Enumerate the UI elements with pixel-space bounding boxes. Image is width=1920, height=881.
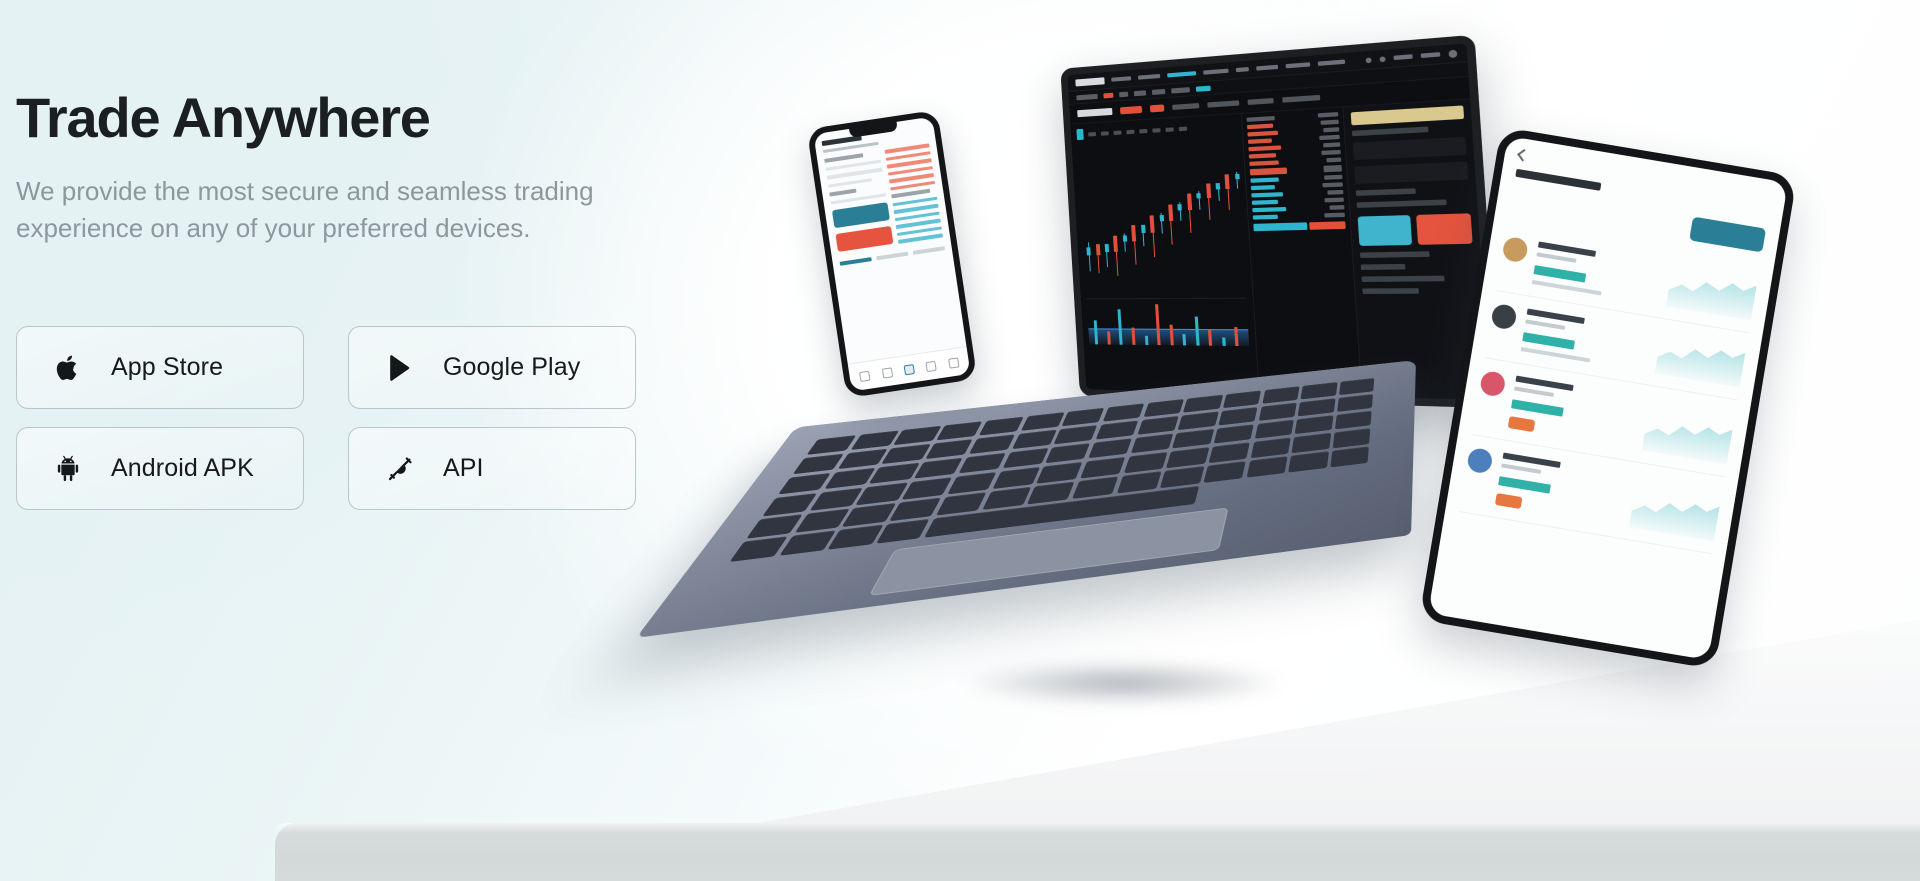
keyboard-key[interactable] [1255, 420, 1294, 440]
phone-trade-body [817, 138, 952, 263]
markets-icon[interactable] [881, 367, 892, 378]
volume-bar [1144, 336, 1148, 345]
sell-short-button[interactable] [1416, 213, 1473, 245]
trader-list [1444, 216, 1774, 563]
tablet-screen-title [1515, 169, 1601, 191]
card-top-highlight [275, 823, 1920, 833]
app-store-label: App Store [111, 353, 223, 382]
trader-roi [1522, 332, 1575, 349]
phone-buy-button[interactable] [832, 202, 890, 228]
trader-sparkline [1666, 267, 1757, 321]
nav-item-active[interactable] [1167, 71, 1196, 77]
laptop-base [636, 360, 1416, 638]
nav-item[interactable] [1421, 52, 1441, 58]
trader-badge [1508, 416, 1536, 432]
symbol-pair[interactable] [1077, 108, 1112, 117]
trader-sparkline [1629, 488, 1720, 542]
keyboard-key[interactable] [1204, 461, 1246, 483]
hero-copy: Trade Anywhere We provide the most secur… [16, 88, 736, 247]
candle [1187, 193, 1192, 209]
wallet-icon[interactable] [948, 357, 959, 368]
keyboard-key[interactable] [1331, 446, 1370, 467]
keyboard-key[interactable] [1337, 394, 1373, 412]
ticker-stat [1282, 95, 1320, 103]
keyboard-key[interactable] [958, 453, 1006, 474]
candlestick-chart [1077, 136, 1244, 276]
keyboard-key[interactable] [1172, 429, 1214, 449]
gear-icon[interactable] [1379, 56, 1385, 62]
keyboard-key[interactable] [1096, 420, 1139, 440]
candle [1105, 244, 1109, 252]
candle [1196, 193, 1200, 199]
copy-trade-cta-button[interactable] [1689, 217, 1766, 253]
trade-icon[interactable] [904, 364, 915, 375]
keyboard-key[interactable] [1214, 424, 1254, 444]
ticker-stat [1248, 98, 1274, 105]
nav-item[interactable] [1318, 60, 1345, 66]
app-store-button[interactable]: App Store [16, 326, 304, 409]
bell-icon[interactable] [1366, 57, 1372, 63]
ticker-stat [1172, 103, 1199, 110]
trader-sparkline [1642, 411, 1733, 465]
laptop-screen [1067, 43, 1490, 400]
trader-metric-label [1521, 347, 1591, 362]
keyboard-key[interactable] [1262, 386, 1300, 404]
keyboard-key[interactable] [1292, 433, 1331, 453]
trader-tag [1525, 319, 1565, 330]
nav-item[interactable] [1138, 74, 1160, 80]
avatar [1490, 303, 1518, 331]
avatar [1479, 370, 1507, 398]
trader-roi [1498, 476, 1551, 493]
keyboard-key[interactable] [876, 519, 930, 544]
candle [1216, 183, 1221, 190]
nav-item[interactable] [1111, 76, 1131, 82]
trader-tag [1501, 463, 1541, 474]
phone-sell-button[interactable] [835, 226, 893, 252]
back-arrow-icon[interactable] [1517, 149, 1530, 162]
last-price-row [1250, 165, 1342, 175]
page-title: Trade Anywhere [16, 88, 736, 147]
api-label: API [443, 454, 484, 483]
keyboard-key[interactable] [1103, 403, 1145, 422]
keyboard-key[interactable] [1339, 378, 1374, 396]
trader-metric-label [1532, 280, 1602, 295]
keyboard-key[interactable] [1251, 437, 1291, 457]
candle [1225, 174, 1230, 189]
keyboard-key[interactable] [1054, 425, 1098, 445]
home-icon[interactable] [859, 370, 870, 381]
android-apk-label: Android APK [111, 454, 254, 483]
keyboard-key[interactable] [1002, 448, 1049, 469]
candle [1095, 244, 1100, 255]
google-play-icon [385, 353, 415, 383]
keyboard-key[interactable] [1130, 433, 1173, 453]
avatar [1501, 236, 1529, 264]
nav-item[interactable] [1256, 65, 1278, 71]
candle [1113, 236, 1118, 252]
volume-bar [1222, 337, 1226, 346]
keyboard-key[interactable] [1045, 443, 1090, 464]
hero-subtitle: We provide the most secure and seamless … [16, 173, 696, 247]
laptop-lid [1060, 35, 1500, 409]
candle [1087, 247, 1091, 255]
keyboard-key[interactable] [1301, 382, 1337, 400]
volume-chart [1087, 298, 1250, 346]
candle [1131, 225, 1136, 241]
keyboard-key[interactable] [1258, 402, 1296, 421]
api-button[interactable]: API [348, 427, 636, 510]
google-play-label: Google Play [443, 353, 580, 382]
keyboard-key[interactable] [1143, 399, 1184, 418]
price-change-badge [1150, 104, 1165, 112]
trader-roi [1511, 399, 1564, 416]
candle [1123, 236, 1127, 241]
ticker-stat [1207, 100, 1239, 107]
price-input[interactable] [1353, 137, 1467, 160]
keyboard-key[interactable] [1062, 407, 1105, 426]
nav-item[interactable] [1394, 54, 1413, 60]
keyboard-key[interactable] [1027, 482, 1075, 505]
android-apk-button[interactable]: Android APK [16, 427, 304, 510]
trader-roi [1533, 265, 1586, 282]
plug-icon [385, 454, 415, 484]
trader-tag [1536, 252, 1576, 263]
keyboard-key[interactable] [1088, 438, 1132, 458]
keyboard-key[interactable] [1335, 411, 1372, 430]
phone-order-form [824, 151, 894, 258]
keyboard-key[interactable] [1333, 428, 1371, 448]
apple-icon [53, 353, 83, 383]
keyboard-key[interactable] [1116, 471, 1161, 493]
keyboard-key[interactable] [1183, 394, 1223, 412]
google-play-button[interactable]: Google Play [348, 326, 636, 409]
candle [1235, 173, 1240, 179]
chart-panel [1070, 114, 1259, 398]
price-change-badge [1120, 106, 1142, 115]
laptop-shadow [958, 660, 1288, 706]
keyboard-key[interactable] [1166, 447, 1209, 468]
keyboard-key[interactable] [1080, 457, 1125, 478]
keyboard-key[interactable] [1178, 411, 1219, 430]
keyboard-key[interactable] [779, 531, 836, 556]
download-buttons-grid: App Store Google Play [16, 326, 636, 510]
keyboard-key[interactable] [828, 525, 883, 550]
keyboard-key[interactable] [1020, 412, 1064, 431]
keyboard-key[interactable] [936, 492, 987, 515]
nav-item[interactable] [1286, 62, 1311, 68]
nav-item[interactable] [1236, 67, 1249, 72]
volume-bar [1169, 324, 1173, 345]
candle [1178, 205, 1182, 211]
order-book-panel [1241, 107, 1362, 400]
keyboard-key[interactable] [1160, 466, 1204, 488]
keyboard-key[interactable] [1295, 415, 1333, 434]
avatar[interactable] [1448, 49, 1457, 57]
brand-logo [1075, 77, 1104, 86]
nav-item[interactable] [1203, 69, 1228, 75]
next-section-card [275, 823, 1920, 881]
keyboard-key[interactable] [730, 536, 788, 561]
terminal-body [1070, 99, 1490, 400]
keyboard-key[interactable] [1137, 416, 1179, 435]
buy-sell-ratio-bar [1253, 221, 1345, 231]
candle [1206, 183, 1211, 198]
keyboard-key[interactable] [1124, 452, 1168, 473]
keyboard-key[interactable] [1223, 390, 1262, 408]
device-cluster [740, 0, 1920, 881]
amount-input[interactable] [1354, 162, 1468, 184]
trader-badge [1495, 493, 1523, 509]
keyboard-key[interactable] [1218, 407, 1257, 426]
volume-bar [1183, 334, 1187, 345]
hero-section: Trade Anywhere We provide the most secur… [0, 0, 1920, 881]
trader-tag [1514, 386, 1554, 397]
order-type-tab[interactable] [1351, 105, 1464, 125]
android-icon [53, 454, 83, 484]
candle [1159, 215, 1163, 222]
futures-icon[interactable] [926, 360, 937, 371]
keyboard-key[interactable] [947, 472, 996, 494]
trader-sparkline [1655, 334, 1746, 388]
buy-long-button[interactable] [1358, 215, 1413, 246]
candle [1141, 225, 1146, 233]
keyboard-key[interactable] [982, 487, 1031, 510]
keyboard-key[interactable] [1011, 429, 1056, 449]
candle [1168, 205, 1173, 221]
keyboard-key[interactable] [1036, 462, 1082, 484]
keyboard-key[interactable] [1072, 476, 1118, 498]
keyboard-key[interactable] [1209, 442, 1250, 463]
phone-order-book [885, 143, 944, 249]
indicator-active-icon[interactable] [1076, 129, 1083, 140]
keyboard-key[interactable] [1289, 451, 1329, 472]
keyboard-key[interactable] [1298, 398, 1335, 417]
candle [1150, 215, 1155, 233]
avatar [1466, 447, 1494, 475]
keyboard-key[interactable] [1246, 456, 1287, 477]
keyboard-key[interactable] [992, 467, 1040, 489]
